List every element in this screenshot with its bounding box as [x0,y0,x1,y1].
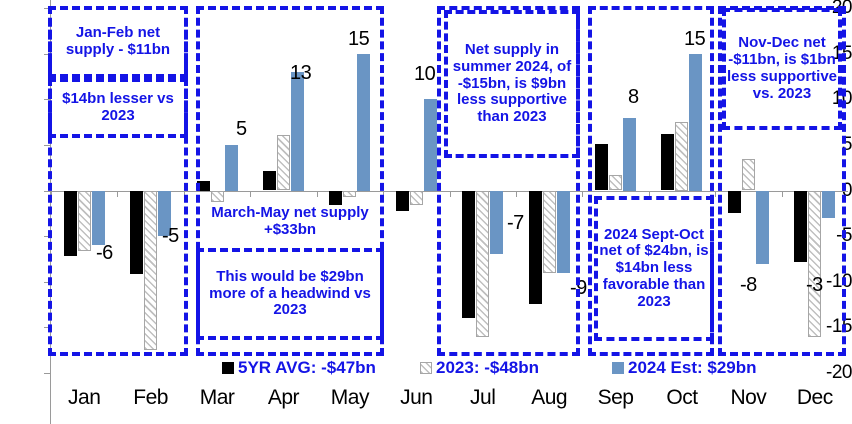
x-axis-label-oct: Oct [666,386,697,410]
annotation-mar-may-net: March-May net supply +$33bn [196,196,384,248]
legend-swatch-avg-icon [222,362,234,374]
x-axis-label-sep: Sep [598,386,634,410]
data-label-jun: 10 [414,63,435,86]
x-axis-label-jun: Jun [400,386,432,410]
annotation-nov-dec-net: Nov-Dec net -$11bn, is $1bn less support… [722,8,842,130]
x-axis-label-mar: Mar [200,386,235,410]
bar-jun-y2023 [410,191,423,206]
bar-jun-avg [396,191,409,211]
x-axis-label-aug: Aug [531,386,567,410]
x-axis-label-jul: Jul [470,386,495,410]
annotation-sept-oct-net: 2024 Sept-Oct net of $24bn, is $14bn les… [594,196,714,341]
legend-label: 2023: -$48bn [436,358,539,378]
x-axis-label-dec: Dec [797,386,833,410]
legend-label: 2024 Est: $29bn [628,358,757,378]
annotation-jan-feb-net: Jan-Feb net supply - $11bn [48,6,188,78]
legend: 5YR AVG: -$47bn2023: -$48bn2024 Est: $29… [0,358,852,382]
bar-jun-y2024 [424,99,437,190]
bar-chart: 20151050-5-10-15-20 -6-55131510-7-9815-8… [0,0,852,424]
legend-swatch-y2023-icon [420,362,432,374]
legend-swatch-y2024-icon [612,362,624,374]
legend-item-y2023: 2023: -$48bn [420,358,539,378]
x-axis-label-jan: Jan [68,386,100,410]
annotation-jan-feb-lesser: $14bn lesser vs 2023 [48,78,188,138]
x-axis-tick [582,191,583,197]
x-axis-label-apr: Apr [268,386,299,410]
legend-item-avg: 5YR AVG: -$47bn [222,358,376,378]
legend-item-y2024: 2024 Est: $29bn [612,358,757,378]
x-axis-tick [715,191,716,197]
annotation-mar-may-headwind: This would be $29bn more of a headwind v… [196,248,384,340]
x-axis-label-feb: Feb [133,386,168,410]
legend-label: 5YR AVG: -$47bn [238,358,376,378]
annotation-summer-net: Net supply in summer 2024, of -$15bn, is… [444,10,580,158]
x-axis-label-may: May [331,386,369,410]
x-axis-label-nov: Nov [730,386,766,410]
